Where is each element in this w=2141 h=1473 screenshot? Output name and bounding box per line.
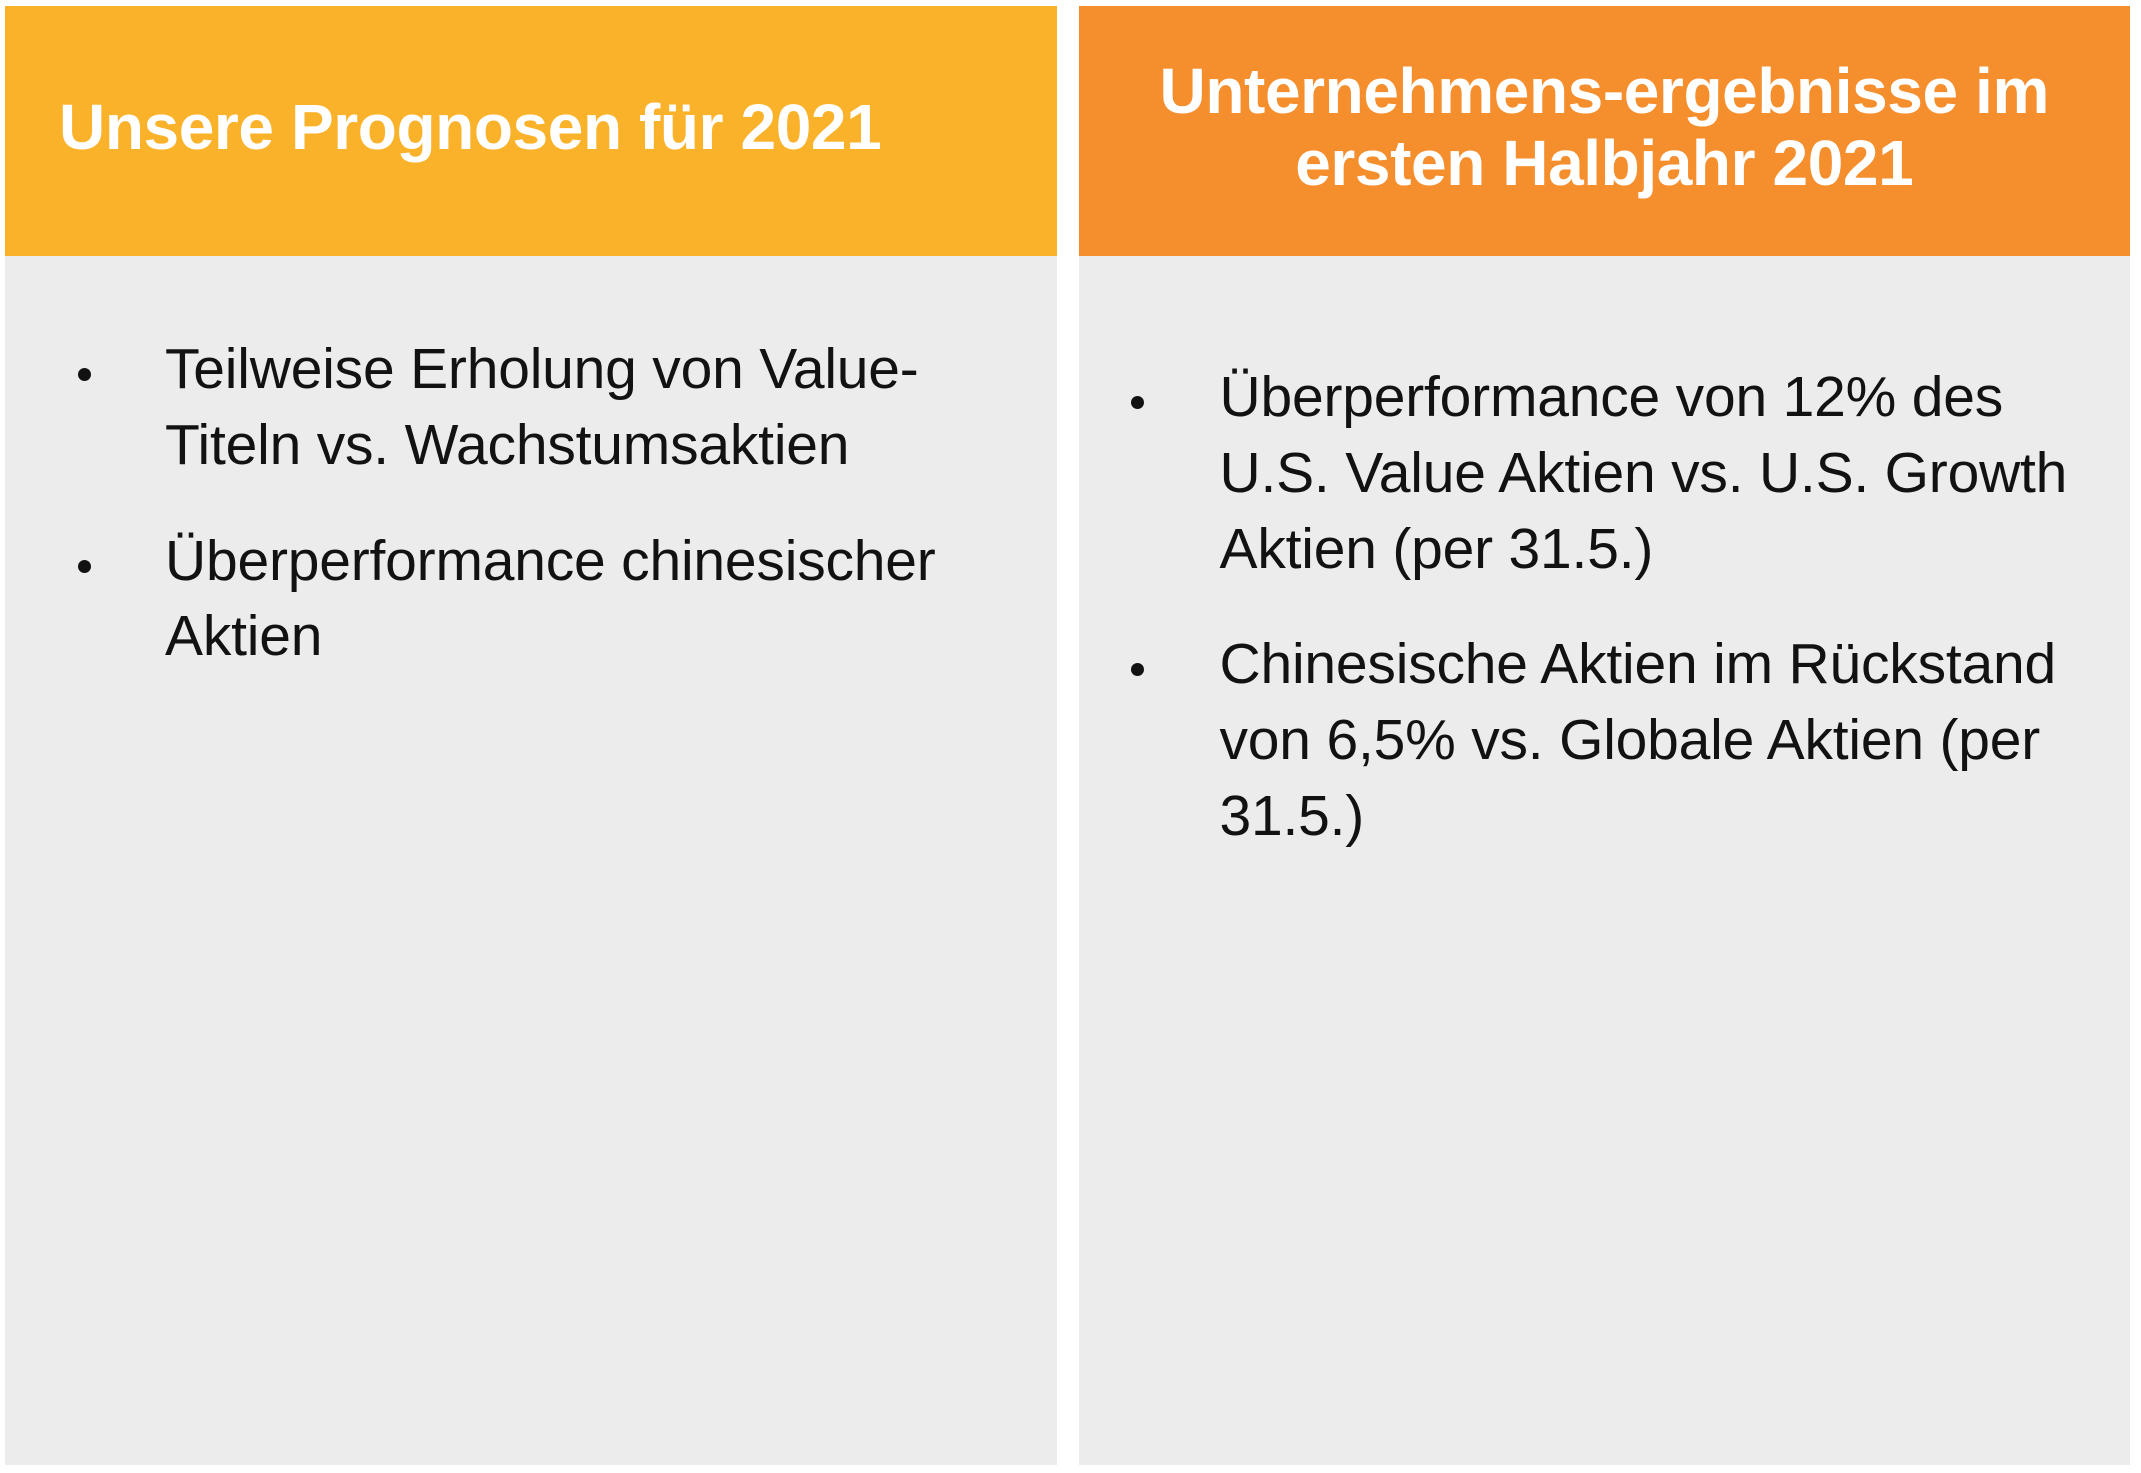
column-header-prognosen: Unsere Prognosen für 2021 — [5, 6, 1057, 256]
list-item: Teilweise Erholung von Value-Titeln vs. … — [47, 332, 1017, 484]
two-column-comparison-slide: Unsere Prognosen für 2021 Teilweise Erho… — [0, 0, 2141, 1473]
bullet-text: Überperformance von 12% des U.S. Value A… — [1220, 360, 2101, 587]
column-body-ergebnisse: Überperformance von 12% des U.S. Value A… — [1079, 256, 2131, 1465]
column-header-ergebnisse: Unternehmens-ergebnisse im ersten Halbja… — [1079, 6, 2131, 256]
bullet-list-prognosen: Teilweise Erholung von Value-Titeln vs. … — [47, 332, 1017, 675]
bullet-dot-icon — [78, 368, 91, 381]
column-header-title: Unsere Prognosen für 2021 — [39, 92, 1023, 164]
bullet-text: Chinesische Aktien im Rückstand von 6,5%… — [1220, 627, 2101, 854]
column-ergebnisse: Unternehmens-ergebnisse im ersten Halbja… — [1079, 6, 2131, 1465]
bullet-dot-icon — [1131, 663, 1144, 676]
column-body-prognosen: Teilweise Erholung von Value-Titeln vs. … — [5, 256, 1057, 1465]
bullet-dot-icon — [1131, 396, 1144, 409]
bullet-text: Teilweise Erholung von Value-Titeln vs. … — [165, 332, 1017, 484]
column-prognosen: Unsere Prognosen für 2021 Teilweise Erho… — [5, 6, 1057, 1465]
bullet-list-ergebnisse: Überperformance von 12% des U.S. Value A… — [1103, 360, 2101, 855]
column-header-title: Unternehmens-ergebnisse im ersten Halbja… — [1113, 56, 2097, 199]
list-item: Chinesische Aktien im Rückstand von 6,5%… — [1103, 627, 2101, 854]
list-item: Überperformance von 12% des U.S. Value A… — [1103, 360, 2101, 587]
list-item: Überperformance chinesischer Aktien — [47, 524, 1017, 676]
bullet-text: Überperformance chinesischer Aktien — [165, 524, 1017, 676]
bullet-dot-icon — [78, 560, 91, 573]
